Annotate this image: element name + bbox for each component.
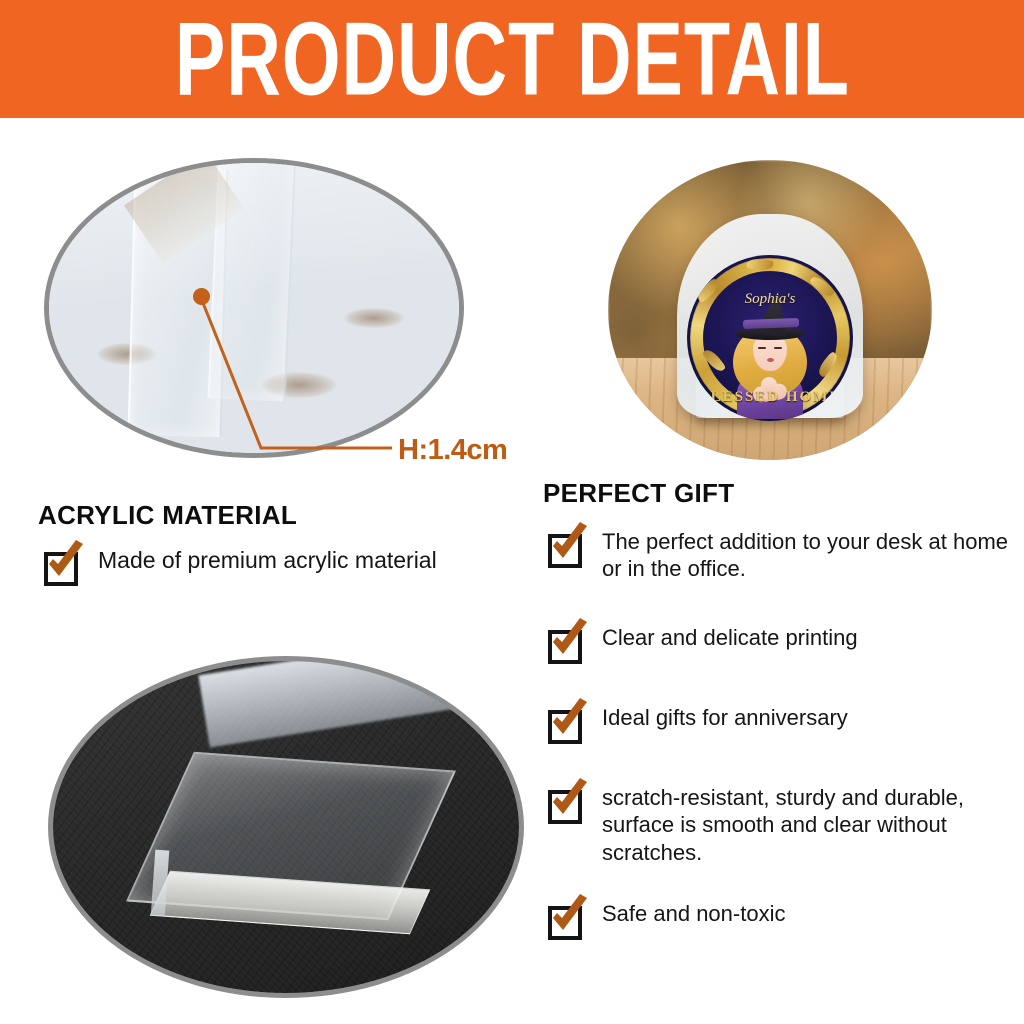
check-glyph <box>547 778 593 824</box>
perfect-gift-heading: PERFECT GIFT <box>543 478 734 509</box>
check-glyph <box>547 618 593 664</box>
photo-content: Sophia's BLESSED HOME <box>608 160 932 460</box>
height-callout-label: H:1.4cm <box>398 434 507 467</box>
witch-plaque-photo: Sophia's BLESSED HOME <box>608 160 932 460</box>
feature-item: The perfect addition to your desk at hom… <box>548 528 1022 583</box>
check-glyph <box>547 894 593 940</box>
checkmark-icon <box>548 786 586 824</box>
feature-item: Ideal gifts for anniversary <box>548 704 848 744</box>
witch-eye-right <box>774 347 782 349</box>
plaque-motto-text: BLESSED HOME <box>699 389 842 406</box>
feature-text: Made of premium acrylic material <box>98 546 437 575</box>
feature-item: scratch-resistant, sturdy and durable, s… <box>548 784 1022 866</box>
check-glyph <box>43 540 89 586</box>
checkmark-icon <box>44 548 82 586</box>
plaque-name-text: Sophia's <box>745 291 796 308</box>
witch-eye-left <box>758 347 766 349</box>
feature-text: scratch-resistant, sturdy and durable, s… <box>602 784 1022 866</box>
acrylic-plaque-body: Sophia's BLESSED HOME <box>677 214 863 418</box>
check-glyph <box>547 522 593 568</box>
acrylic-block-on-slate-photo <box>48 656 524 998</box>
checkmark-icon <box>548 626 586 664</box>
witch-mouth <box>767 358 774 362</box>
acrylic-material-heading: ACRYLIC MATERIAL <box>38 500 297 531</box>
checkmark-icon <box>548 706 586 744</box>
feature-text: Ideal gifts for anniversary <box>602 704 848 731</box>
feature-text: Safe and non-toxic <box>602 900 785 927</box>
checkmark-icon <box>548 530 586 568</box>
feature-text: The perfect addition to your desk at hom… <box>602 528 1022 583</box>
photo-content <box>53 661 519 993</box>
plaque-artwork-disc: Sophia's BLESSED HOME <box>687 255 853 421</box>
feature-item: Safe and non-toxic <box>548 900 785 940</box>
feature-item: Clear and delicate printing <box>548 624 858 664</box>
feature-item: Made of premium acrylic material <box>44 546 437 586</box>
checkmark-icon <box>548 902 586 940</box>
feature-text: Clear and delicate printing <box>602 624 858 651</box>
check-glyph <box>547 698 593 744</box>
